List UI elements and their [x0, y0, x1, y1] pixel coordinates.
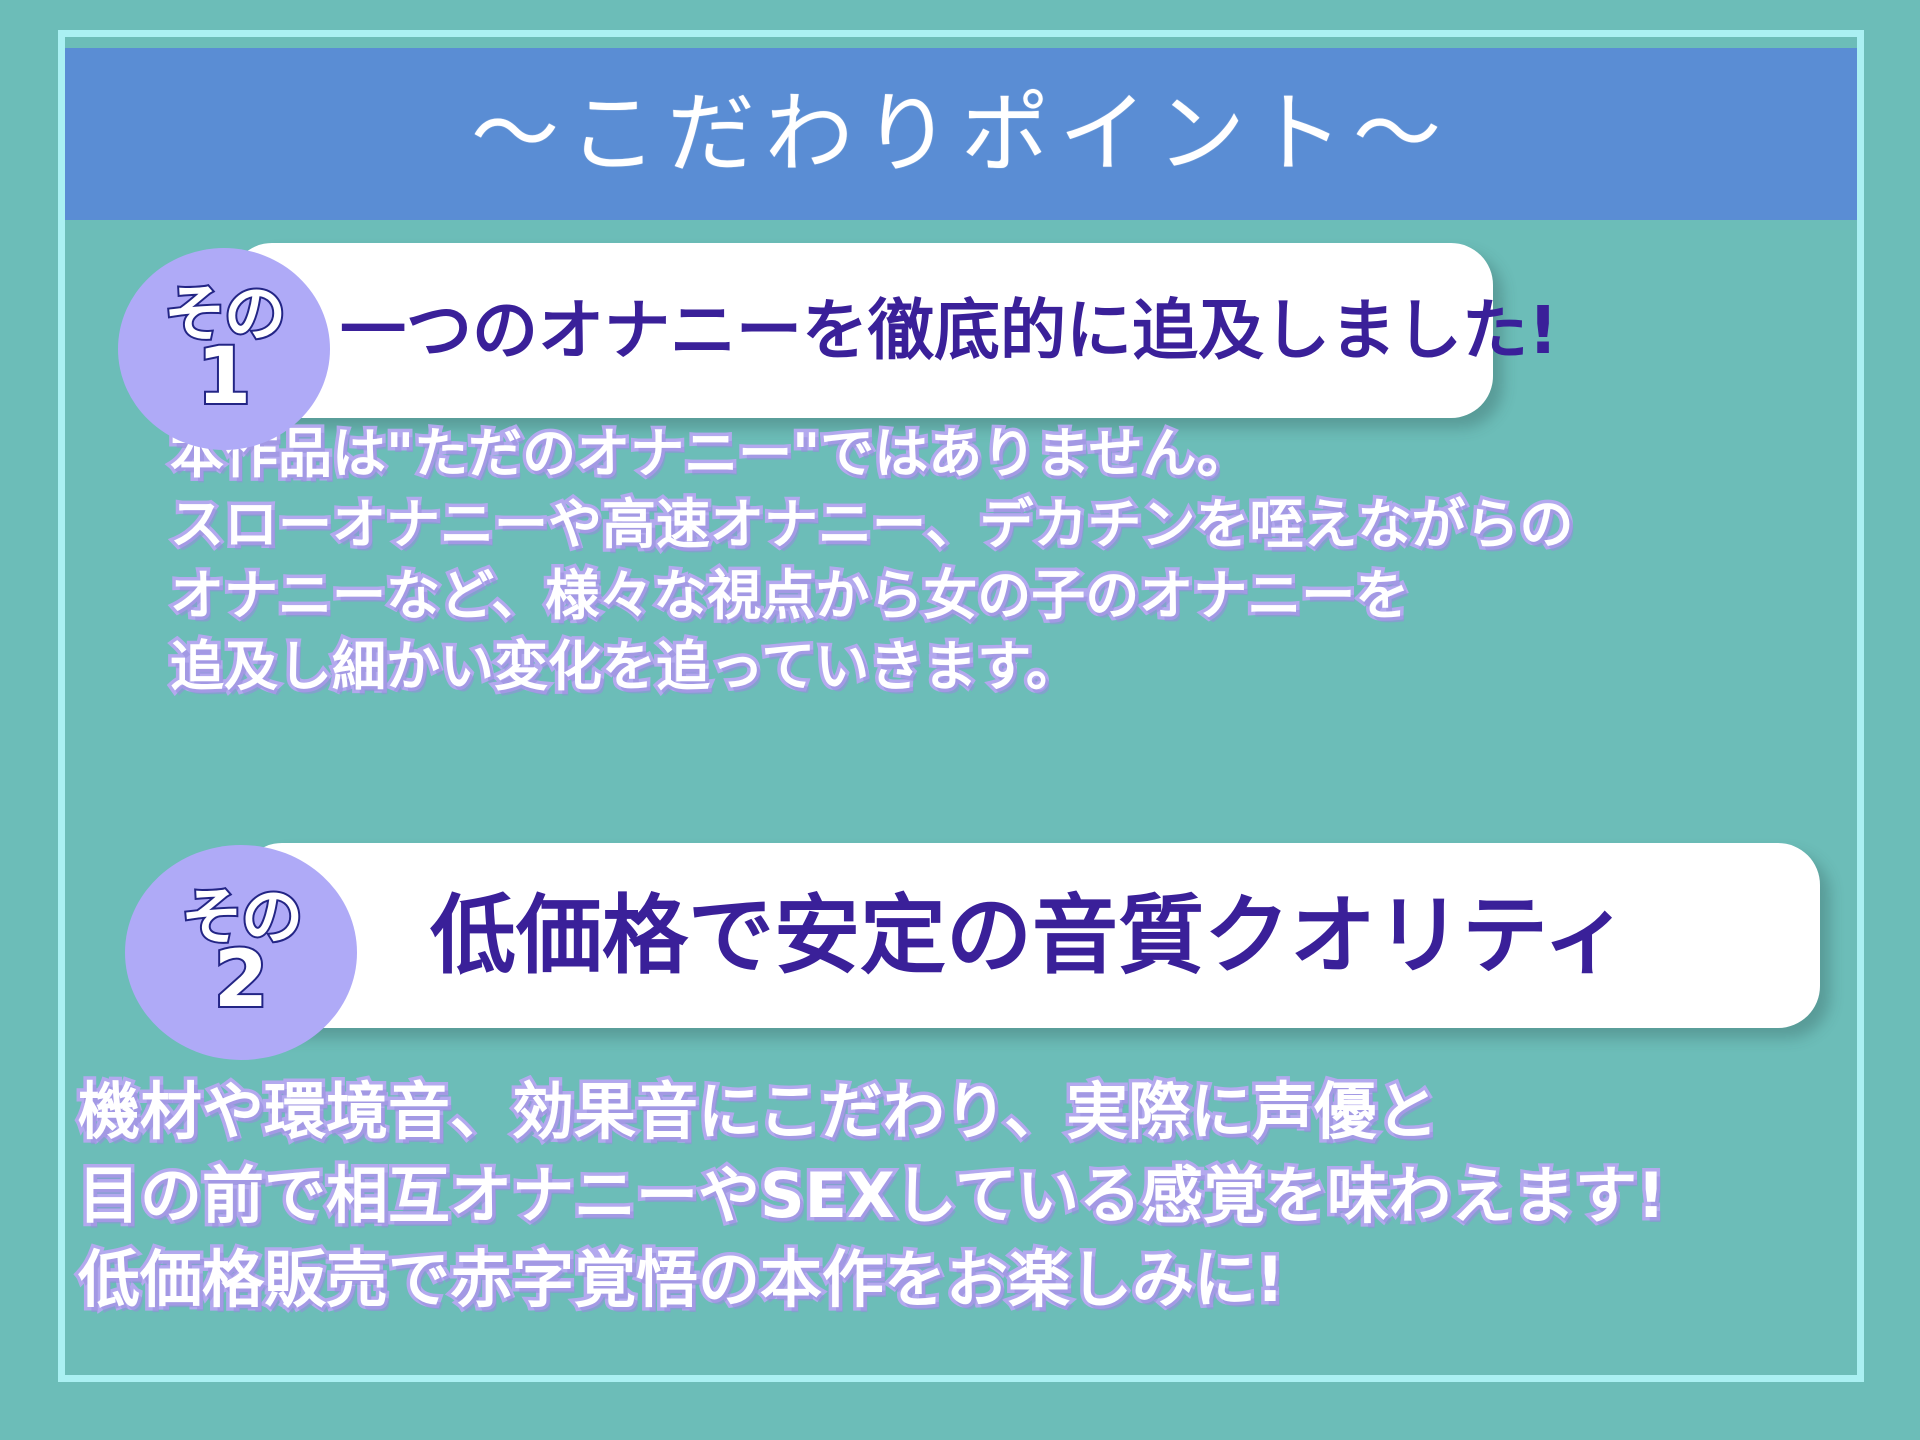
- section-1-badge-number: 1: [197, 342, 251, 414]
- poster-canvas: ～こだわりポイント～ 一つのオナニーを徹底的に追及しました! その 1 本作品は…: [0, 0, 1920, 1440]
- section-1-headline: 一つのオナニーを徹底的に追及しました!: [340, 298, 1558, 364]
- section-2-headline: 低価格で安定の音質クオリティ: [430, 893, 1629, 979]
- section-2-badge-number: 2: [214, 945, 268, 1017]
- section-2-headline-box: 低価格で安定の音質クオリティ: [240, 843, 1820, 1028]
- section-1-body-line: 本作品は"ただのオナニー"ではありません。: [170, 418, 1573, 489]
- header-band: ～こだわりポイント～: [65, 48, 1857, 220]
- section-2-badge: その 2: [125, 845, 357, 1060]
- section-1-badge: その 1: [118, 248, 330, 450]
- page-title: ～こだわりポイント～: [471, 90, 1451, 178]
- section-1-body-line: 追及し細かい変化を追っていきます。: [170, 631, 1573, 702]
- section-2-body-line: 目の前で相互オナニーやSEXしている感覚を味わえます!: [78, 1154, 1665, 1238]
- section-1-body-text: 本作品は"ただのオナニー"ではありません。 スローオナニーや高速オナニー、デカチ…: [170, 418, 1573, 702]
- section-2-body-text: 機材や環境音、効果音にこだわり、実際に声優と 目の前で相互オナニーやSEXしてい…: [78, 1070, 1665, 1322]
- section-1-body-line: オナニーなど、様々な視点から女の子のオナニーを: [170, 560, 1573, 631]
- section-1-body-line: スローオナニーや高速オナニー、デカチンを咥えながらの: [170, 489, 1573, 560]
- section-1-headline-box: 一つのオナニーを徹底的に追及しました!: [230, 243, 1493, 418]
- section-2-body-line: 低価格販売で赤字覚悟の本作をお楽しみに!: [78, 1238, 1665, 1322]
- section-2-body-line: 機材や環境音、効果音にこだわり、実際に声優と: [78, 1070, 1665, 1154]
